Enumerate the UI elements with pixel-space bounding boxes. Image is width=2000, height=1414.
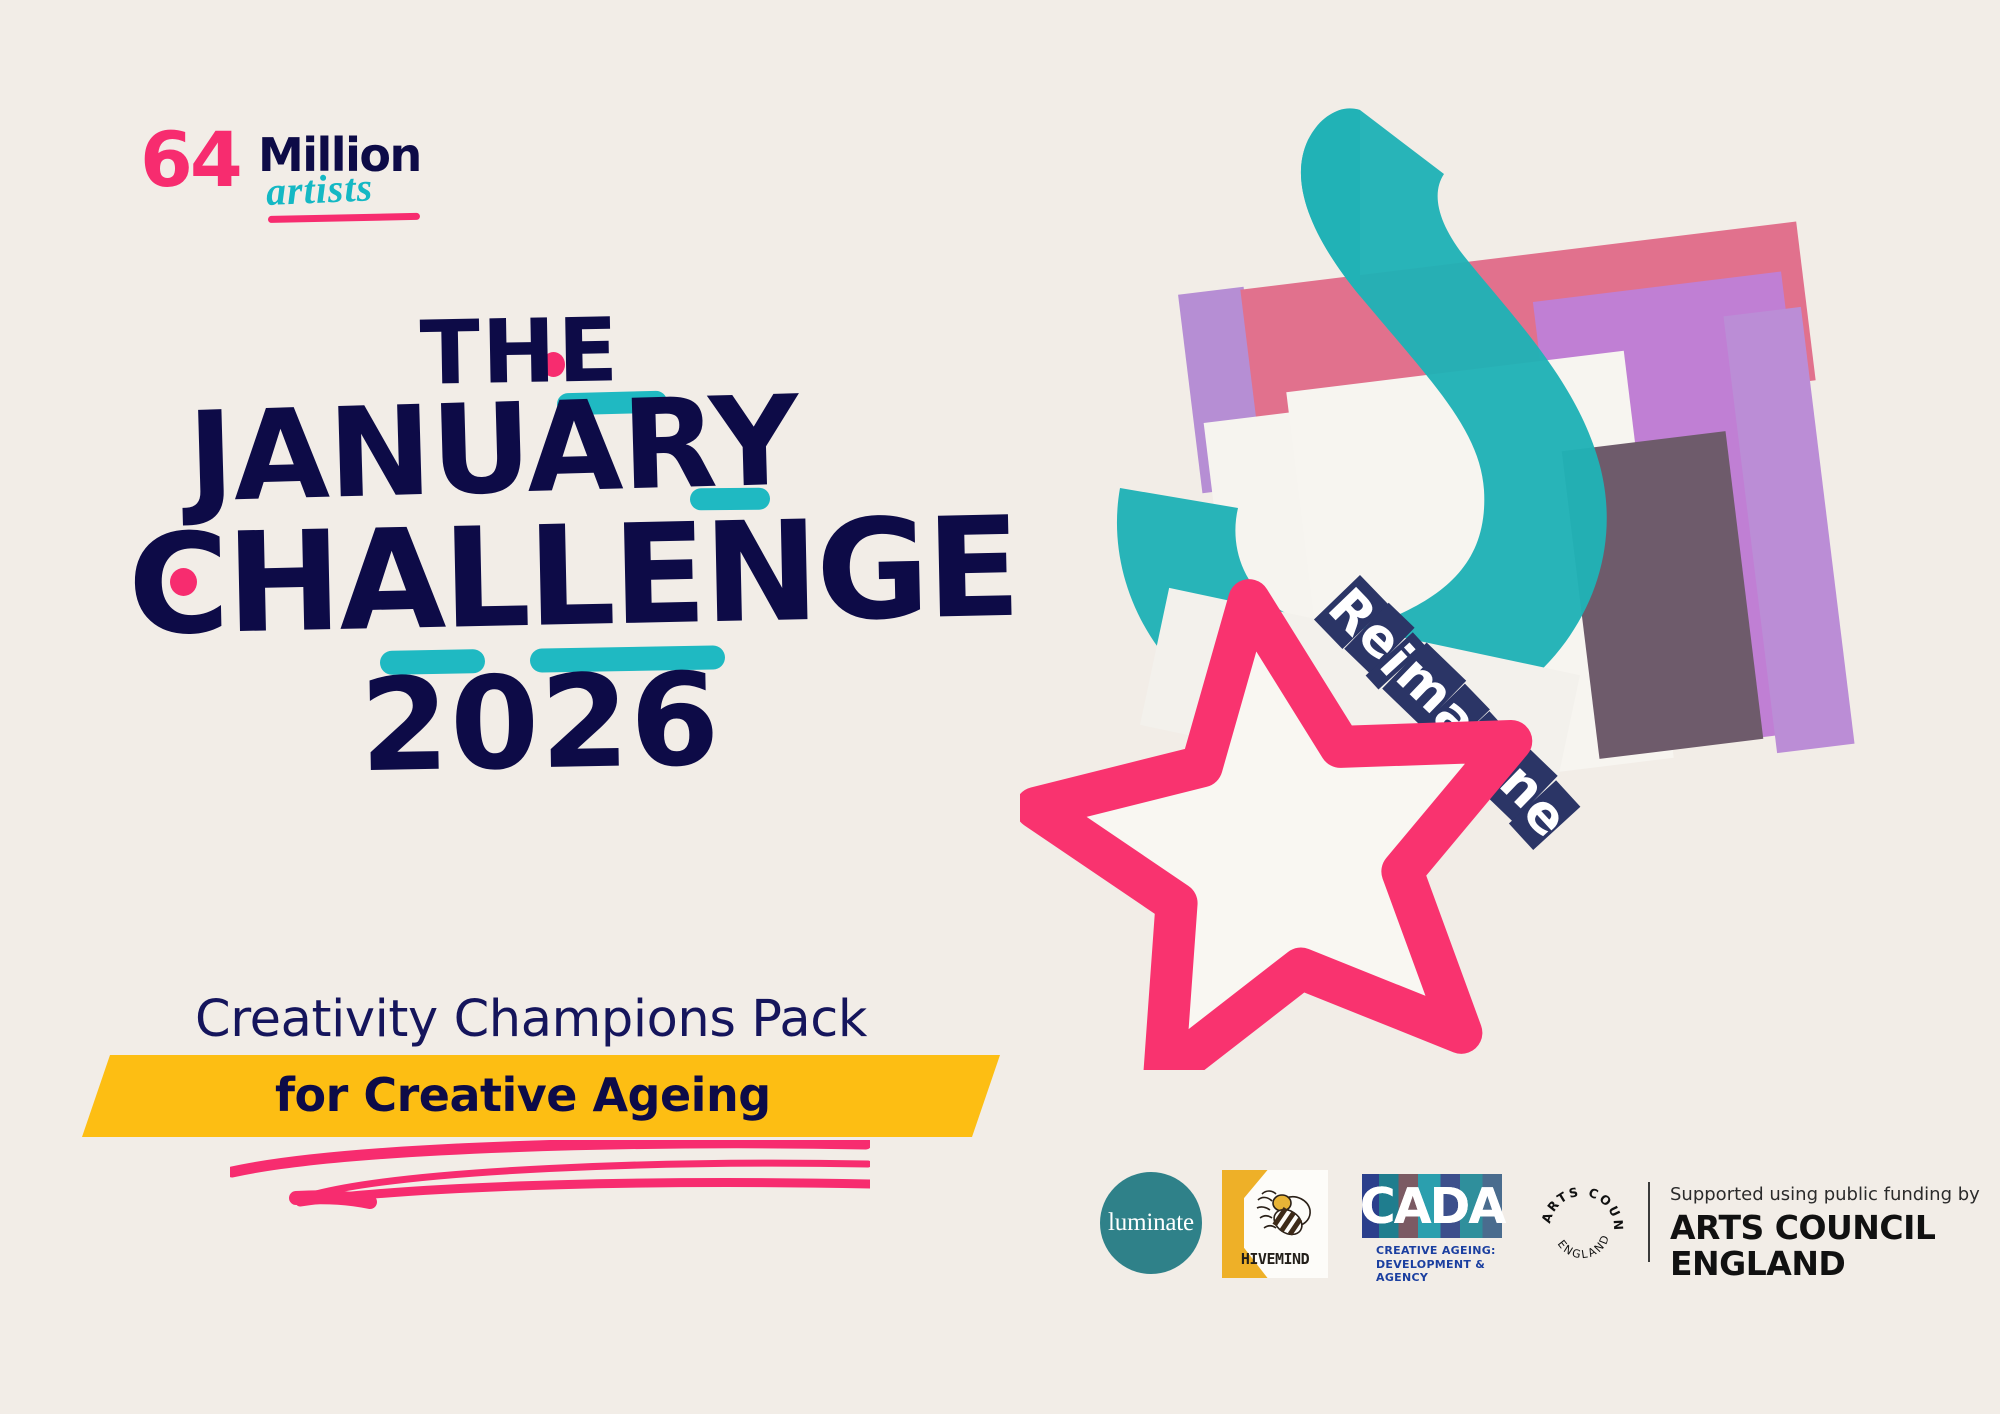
cada-subtitle-line-1: CREATIVE AGEING:	[1376, 1244, 1504, 1257]
headline-line-year: 2026	[359, 657, 721, 791]
luminate-logo[interactable]: luminate	[1100, 1172, 1202, 1274]
luminate-label: luminate	[1108, 1209, 1194, 1237]
arts-council-name-line-1: ARTS COUNCIL	[1670, 1208, 1935, 1247]
logo-64-text: 64	[140, 122, 240, 198]
arts-council-england-logo[interactable]: ARTS COUNCIL ENGLAND Supported using pub…	[1536, 1164, 1896, 1284]
pink-star-shape	[1020, 570, 1540, 1070]
pink-squiggle-underline	[230, 1140, 870, 1240]
subtitle-text: Creativity Champions Pack	[195, 990, 867, 1049]
cada-logo[interactable]: CADA CREATIVE AGEING: DEVELOPMENT & AGEN…	[1362, 1174, 1502, 1278]
headline-line-challenge: CHALLENGE	[127, 499, 1019, 656]
svg-text:ARTS COUNCIL: ARTS COUNCIL	[1536, 1176, 1626, 1233]
arts-council-roundel-icon: ARTS COUNCIL ENGLAND	[1536, 1176, 1628, 1268]
cada-wordmark: CADA	[1362, 1174, 1502, 1238]
collage-artwork: Reimagine	[1060, 70, 1880, 1130]
hivemind-logo[interactable]: HIVEMIND	[1222, 1170, 1328, 1278]
page-title: THE JANUARY CHALLENGE 2026	[130, 300, 930, 940]
arts-council-name-line-2: ENGLAND	[1670, 1244, 1845, 1283]
svg-text:ENGLAND: ENGLAND	[1555, 1232, 1613, 1262]
cada-subtitle-line-2: DEVELOPMENT & AGENCY	[1376, 1258, 1504, 1284]
banner-label-text: for Creative Ageing	[275, 1068, 771, 1122]
brand-logo[interactable]: 64 Million artists	[140, 128, 420, 218]
bee-icon	[1252, 1188, 1314, 1244]
partner-logo-row: luminate	[1100, 1160, 1900, 1290]
arts-council-support-line: Supported using public funding by	[1670, 1184, 1980, 1205]
arts-council-divider	[1648, 1182, 1650, 1262]
poster-canvas: 64 Million artists THE JANUARY CHALLENGE…	[0, 0, 2000, 1414]
logo-underline-stroke	[268, 213, 420, 223]
logo-artists-script: artists	[265, 167, 374, 212]
hivemind-label: HIVEMIND	[1228, 1250, 1322, 1268]
